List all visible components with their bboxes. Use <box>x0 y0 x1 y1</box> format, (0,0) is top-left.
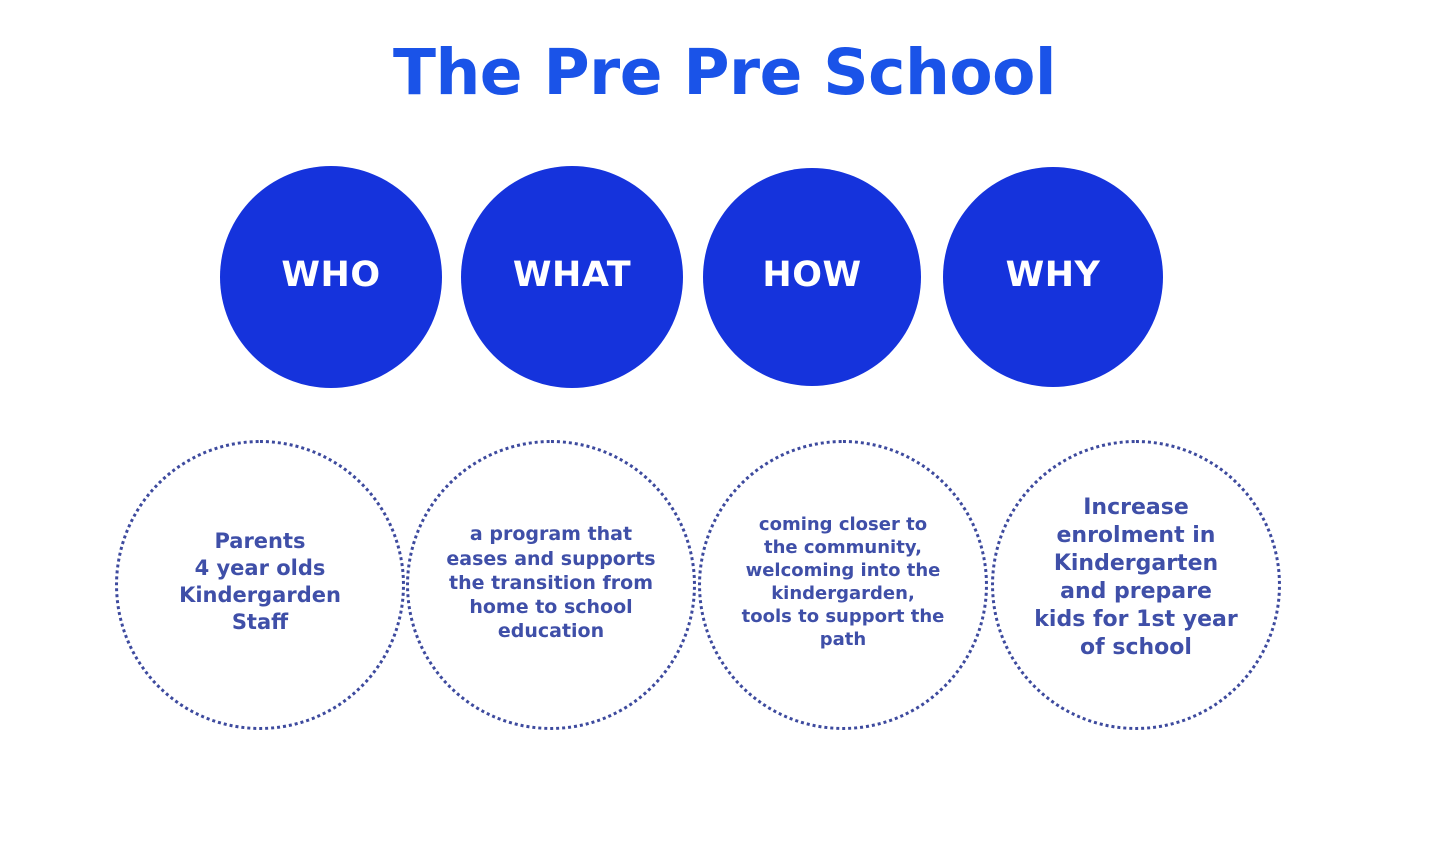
dotted-circle-row: Parents 4 year olds Kindergarden Staffa … <box>0 0 1449 845</box>
slide-canvas: The Pre Pre School WHOWHATHOWWHY Parents… <box>0 0 1449 845</box>
dotted-circle-text: coming closer to the community, welcomin… <box>719 513 967 651</box>
dotted-circle-what-detail[interactable]: a program that eases and supports the tr… <box>406 440 696 730</box>
dotted-circle-text: a program that eases and supports the tr… <box>426 522 676 644</box>
dotted-circle-how-detail[interactable]: coming closer to the community, welcomin… <box>698 440 988 730</box>
dotted-circle-text: Parents 4 year olds Kindergarden Staff <box>140 528 380 636</box>
dotted-circle-why-detail[interactable]: Increase enrolment in Kindergarten and p… <box>991 440 1281 730</box>
dotted-circle-who-detail[interactable]: Parents 4 year olds Kindergarden Staff <box>115 440 405 730</box>
dotted-circle-text: Increase enrolment in Kindergarten and p… <box>1021 494 1251 663</box>
